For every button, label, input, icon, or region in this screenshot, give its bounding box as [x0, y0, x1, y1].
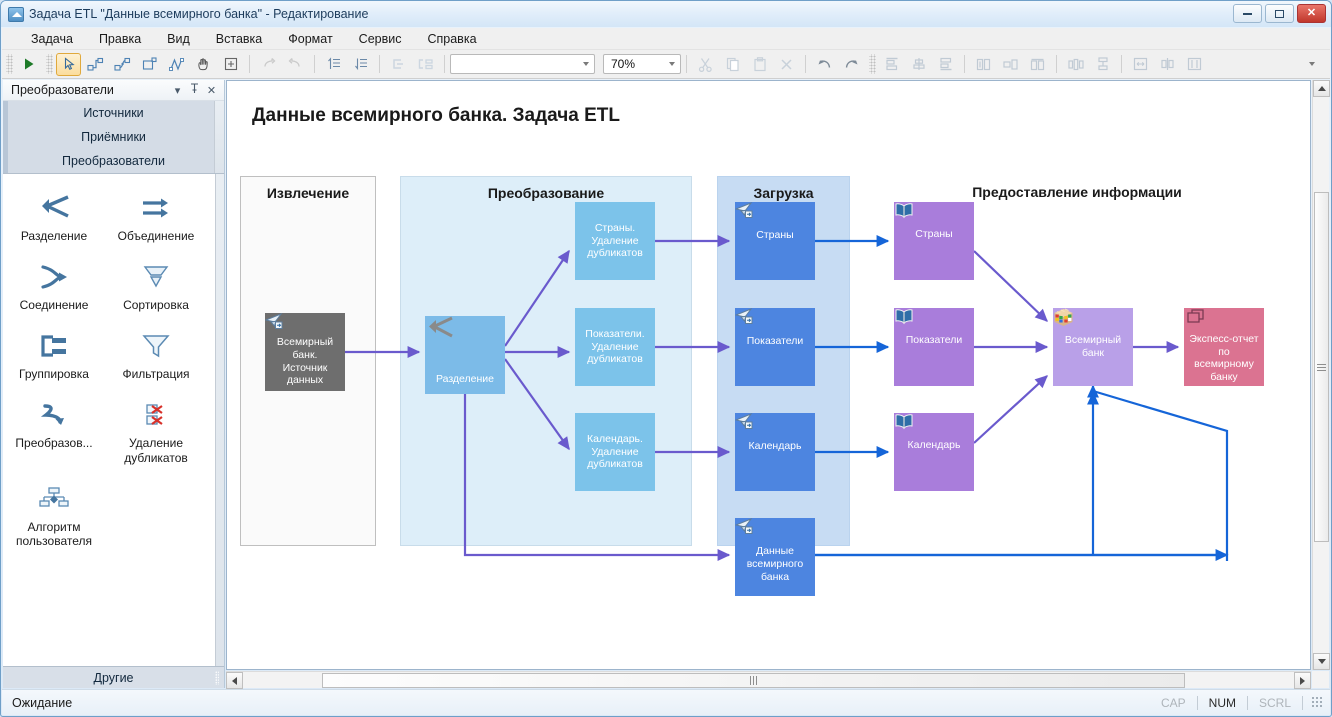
diagram-canvas[interactable]: Данные всемирного банка. Задача ETL Извл…	[226, 80, 1311, 670]
palette-item-label: Алгоритм пользователя	[6, 520, 102, 548]
node-label: Всемирный банк. Источник данных	[267, 336, 343, 387]
pin-icon[interactable]	[186, 83, 203, 97]
align-top-button[interactable]	[879, 53, 904, 76]
palette-item-label: Удаление дубликатов	[108, 436, 204, 464]
undo-action-button[interactable]	[812, 53, 837, 76]
node-source-worldbank[interactable]: Всемирный банк. Источник данных	[265, 313, 345, 391]
increase-indent-button[interactable]	[321, 53, 346, 76]
align-middle-button[interactable]	[906, 53, 931, 76]
node-label: Календарь	[747, 440, 804, 453]
dock-menu-button[interactable]: ▾	[169, 84, 186, 97]
close-icon[interactable]: ✕	[203, 84, 220, 97]
menu-item-service[interactable]: Сервис	[346, 30, 415, 48]
remove-duplicates-icon	[108, 397, 204, 433]
redo-button[interactable]	[283, 53, 308, 76]
palette-item-sort[interactable]: Сортировка	[105, 255, 207, 324]
toolbar-separator-8	[1056, 55, 1057, 73]
window-title: Задача ETL "Данные всемирного банка" - Р…	[29, 7, 368, 21]
node-label: Календарь	[906, 439, 963, 452]
node-add-button[interactable]	[137, 53, 162, 76]
node-label: Показатели. Удаление дубликатов	[577, 328, 653, 366]
menu-item-task[interactable]: Задача	[18, 30, 86, 48]
canvas-vertical-scrollbar[interactable]	[1312, 80, 1329, 670]
scrollbar-corner	[1312, 671, 1329, 688]
scroll-left-button[interactable]	[226, 672, 243, 689]
scroll-down-button[interactable]	[1313, 653, 1330, 670]
dock-tab-transformers[interactable]: Преобразователи	[3, 149, 224, 173]
node-load-countries[interactable]: Страны	[735, 202, 815, 280]
status-indicators: CAP NUM SCRL	[1150, 696, 1326, 710]
toolbar-separator-6	[805, 55, 806, 73]
delete-button[interactable]	[774, 53, 799, 76]
polyline-button[interactable]	[164, 53, 189, 76]
decrease-indent-button[interactable]	[348, 53, 373, 76]
palette-item-label: Объединение	[108, 229, 204, 243]
node-label: Экспесс-отчет по всемирному банку	[1186, 333, 1262, 384]
align-bottom-button[interactable]	[933, 53, 958, 76]
pan-tool-button[interactable]	[191, 53, 216, 76]
palette-item-label: Разделение	[6, 229, 102, 243]
grip-dots-icon	[216, 154, 220, 168]
node-label: Страны	[913, 228, 954, 241]
minimize-button[interactable]	[1233, 4, 1262, 23]
status-badge-scrl: SCRL	[1248, 696, 1302, 710]
distribute-vertical-button[interactable]	[1090, 53, 1115, 76]
user-algorithm-icon	[6, 481, 102, 517]
canvas-horizontal-scrollbar[interactable]	[226, 671, 1311, 688]
toolbar-grip-3[interactable]	[869, 54, 876, 74]
palette-item-union[interactable]: Объединение	[105, 186, 207, 255]
toolbar-separator-3	[379, 55, 380, 73]
close-button[interactable]: ✕	[1297, 4, 1326, 23]
dock-tab-label: Преобразователи	[62, 154, 165, 168]
style-combobox[interactable]	[450, 54, 595, 74]
node-dict-indicators[interactable]: Показатели	[894, 308, 974, 386]
canvas-area: Данные всемирного банка. Задача ETL Извл…	[226, 80, 1329, 688]
connector-curved-button[interactable]	[110, 53, 135, 76]
size-width-button[interactable]	[1155, 53, 1180, 76]
status-badge-cap: CAP	[1150, 696, 1197, 710]
palette-item-user-algorithm[interactable]: Алгоритм пользователя	[3, 477, 105, 560]
chevron-down-icon	[1309, 62, 1315, 66]
copy-button[interactable]	[720, 53, 745, 76]
zoom-combobox-value: 70%	[611, 57, 635, 71]
maximize-button[interactable]	[1265, 4, 1294, 23]
dock-tab-label: Источники	[83, 106, 143, 120]
title-bar: Задача ETL "Данные всемирного банка" - Р…	[1, 1, 1331, 27]
size-equal-button[interactable]	[1128, 53, 1153, 76]
node-label: Календарь. Удаление дубликатов	[577, 433, 653, 471]
node-label: Всемирный банк	[1055, 334, 1131, 360]
node-dedup-countries[interactable]: Страны. Удаление дубликатов	[575, 202, 655, 280]
toolbar-overflow-button[interactable]	[1299, 53, 1324, 76]
group-rows-icon	[6, 328, 102, 364]
menu-item-view[interactable]: Вид	[154, 30, 203, 48]
dock-footer-label: Другие	[93, 671, 133, 685]
palette-item-group-rows[interactable]: Группировка	[3, 324, 105, 393]
palette-item-label: Сортировка	[108, 298, 204, 312]
undo-button[interactable]	[256, 53, 281, 76]
chevron-down-icon	[583, 62, 589, 66]
vertical-scroll-thumb[interactable]	[1314, 192, 1329, 542]
transformers-palette: Разделение Объединение	[3, 174, 224, 666]
node-dict-calendar[interactable]: Календарь	[894, 413, 974, 491]
horizontal-scroll-thumb[interactable]	[322, 673, 1185, 688]
split-icon	[6, 190, 102, 226]
node-label: Страны. Удаление дубликатов	[577, 222, 653, 260]
node-dict-countries[interactable]: Страны	[894, 202, 974, 280]
menu-item-help[interactable]: Справка	[414, 30, 489, 48]
resize-grip[interactable]	[1311, 696, 1324, 709]
select-tool-button[interactable]	[56, 53, 81, 76]
palette-item-remove-duplicates[interactable]: Удаление дубликатов	[105, 393, 207, 476]
grip-dots-icon	[215, 671, 219, 685]
node-load-calendar[interactable]: Календарь	[735, 413, 815, 491]
palette-item-label: Группировка	[6, 367, 102, 381]
transformers-dock-panel: Преобразователи ▾ ✕ Источники Приёмники …	[3, 80, 225, 688]
application-window: Задача ETL "Данные всемирного банка" - Р…	[0, 0, 1332, 717]
palette-item-filter[interactable]: Фильтрация	[105, 324, 207, 393]
toolbar: 70%	[2, 50, 1330, 79]
run-button[interactable]	[16, 53, 41, 76]
etl-diagram: Данные всемирного банка. Задача ETL Извл…	[227, 81, 1311, 670]
menu-item-insert[interactable]: Вставка	[203, 30, 275, 48]
node-label: Показатели	[745, 335, 806, 348]
palette-item-split[interactable]: Разделение	[3, 186, 105, 255]
node-split[interactable]: Разделение	[425, 316, 505, 394]
sort-icon	[108, 259, 204, 295]
grip-dots-icon	[216, 130, 220, 144]
grip-dots-icon	[216, 106, 220, 120]
zoom-combobox[interactable]: 70%	[603, 54, 681, 74]
chevron-down-icon	[669, 62, 675, 66]
palette-item-label: Фильтрация	[108, 367, 204, 381]
dock-tab-strip: Источники Приёмники Преобразователи	[3, 101, 224, 174]
toolbar-separator-9	[1121, 55, 1122, 73]
distribute-horizontal-button[interactable]	[1063, 53, 1088, 76]
node-load-worldbank[interactable]: Данные всемирного банка	[735, 518, 815, 596]
palette-item-label: Преобразов...	[6, 436, 102, 450]
size-height-button[interactable]	[1182, 53, 1207, 76]
status-bar: Ожидание CAP NUM SCRL	[2, 689, 1330, 715]
etl-task-icon	[8, 7, 24, 22]
scroll-up-button[interactable]	[1313, 80, 1330, 97]
align-left-button[interactable]	[971, 53, 996, 76]
palette-item-transform[interactable]: Преобразов...	[3, 393, 105, 476]
divider	[1302, 696, 1303, 710]
status-badge-num: NUM	[1198, 696, 1247, 710]
palette-item-join[interactable]: Соединение	[3, 255, 105, 324]
node-cube-worldbank[interactable]: Всемирный банк	[1053, 308, 1133, 386]
node-label: Разделение	[434, 373, 496, 386]
palette-scrollbar[interactable]	[215, 174, 224, 666]
node-dedup-calendar[interactable]: Календарь. Удаление дубликатов	[575, 413, 655, 491]
node-dedup-indicators[interactable]: Показатели. Удаление дубликатов	[575, 308, 655, 386]
align-right-button[interactable]	[1025, 53, 1050, 76]
dock-tab-sources[interactable]: Источники	[3, 101, 224, 125]
node-label: Показатели	[904, 334, 965, 347]
join-icon	[6, 259, 102, 295]
group-button[interactable]	[386, 53, 411, 76]
dock-footer-other[interactable]: Другие	[3, 666, 224, 688]
toolbar-grip[interactable]	[6, 54, 13, 74]
dock-tab-label: Приёмники	[81, 130, 146, 144]
toolbar-separator-7	[964, 55, 965, 73]
toolbar-separator-2	[314, 55, 315, 73]
cut-button[interactable]	[693, 53, 718, 76]
fit-page-button[interactable]	[218, 53, 243, 76]
menu-bar: Задача Правка Вид Вставка Формат Сервис …	[2, 28, 1330, 50]
node-label: Страны	[754, 229, 795, 242]
node-label: Данные всемирного банка	[737, 545, 813, 583]
union-icon	[108, 190, 204, 226]
connector-orthogonal-button[interactable]	[83, 53, 108, 76]
dock-panel-header: Преобразователи ▾ ✕	[3, 80, 224, 101]
menu-item-format[interactable]: Формат	[275, 30, 345, 48]
toolbar-grip-2[interactable]	[46, 54, 53, 74]
toolbar-separator-1	[249, 55, 250, 73]
dock-tab-targets[interactable]: Приёмники	[3, 125, 224, 149]
node-report-worldbank[interactable]: Экспесс-отчет по всемирному банку	[1184, 308, 1264, 386]
grip-lines-icon	[750, 676, 757, 685]
palette-item-label: Соединение	[6, 298, 102, 312]
node-load-indicators[interactable]: Показатели	[735, 308, 815, 386]
transform-icon	[6, 397, 102, 433]
ungroup-button[interactable]	[413, 53, 438, 76]
menu-item-edit[interactable]: Правка	[86, 30, 154, 48]
scroll-right-button[interactable]	[1294, 672, 1311, 689]
filter-funnel-icon	[108, 328, 204, 364]
dock-panel-title: Преобразователи	[11, 83, 114, 97]
redo-action-button[interactable]	[839, 53, 864, 76]
status-message: Ожидание	[12, 696, 72, 710]
align-center-button[interactable]	[998, 53, 1023, 76]
window-controls: ✕	[1233, 4, 1326, 23]
paste-button[interactable]	[747, 53, 772, 76]
toolbar-separator-5	[686, 55, 687, 73]
grip-lines-icon	[1317, 364, 1326, 371]
toolbar-separator-4	[444, 55, 445, 73]
